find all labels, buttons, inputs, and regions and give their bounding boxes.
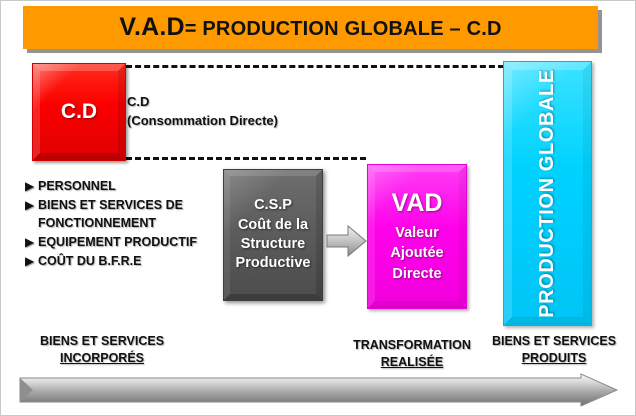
csp-line1: C.S.P (236, 196, 311, 215)
list-item: ▶ COÛT DU B.F.R.E (25, 252, 225, 270)
vad-subtext: Valeur Ajoutée Directe (390, 223, 443, 285)
production-globale-box: PRODUCTION GLOBALE (503, 61, 592, 326)
csp-box: C.S.P Coût de la Structure Productive (223, 169, 323, 301)
triangle-bullet-icon: ▶ (25, 252, 38, 270)
triangle-bullet-icon: ▶ (25, 196, 38, 214)
vad-line1: Valeur (390, 223, 443, 244)
slide-canvas: V.A.D= PRODUCTION GLOBALE – C.D C.D C.D … (0, 0, 636, 416)
cd-caption-line1: C.D (127, 93, 278, 112)
caption-incorpores-line1: BIENS ET SERVICES (40, 334, 164, 348)
caption-incorpores-line2: INCORPORÉS (60, 351, 144, 365)
csp-line4: Productive (236, 254, 311, 273)
title-main: V.A.D (119, 13, 184, 41)
triangle-bullet-icon: ▶ (25, 233, 38, 251)
cd-box: C.D (32, 63, 126, 161)
list-item: ▶ EQUIPEMENT PRODUCTIF (25, 233, 225, 251)
production-globale-label: PRODUCTION GLOBALE (536, 69, 559, 318)
dashed-line-top (126, 65, 504, 68)
vad-title: VAD (390, 189, 443, 218)
caption-incorpores: BIENS ET SERVICES INCORPORÉS (17, 333, 187, 367)
inputs-bullet-list: ▶ PERSONNEL ▶ BIENS ET SERVICES DE FONCT… (25, 177, 225, 271)
right-arrow-icon (326, 223, 368, 259)
cd-caption-line2: (Consommation Directe) (127, 112, 278, 131)
page-title: V.A.D= PRODUCTION GLOBALE – C.D (119, 15, 501, 40)
dashed-line-bottom (126, 157, 366, 160)
vad-box-text: VAD Valeur Ajoutée Directe (390, 189, 443, 284)
caption-transformation: TRANSFORMATION REALISÉE (337, 337, 487, 371)
title-banner: V.A.D= PRODUCTION GLOBALE – C.D (23, 6, 598, 49)
caption-transformation-line2: REALISÉE (381, 355, 444, 369)
csp-line3: Structure (236, 235, 311, 254)
cd-caption: C.D (Consommation Directe) (127, 93, 278, 131)
triangle-bullet-icon: ▶ (25, 177, 38, 195)
caption-produits-line1: BIENS ET SERVICES (492, 334, 616, 348)
list-item: ▶ PERSONNEL (25, 177, 225, 195)
cd-box-label: C.D (61, 100, 97, 124)
title-rest: = PRODUCTION GLOBALE – C.D (185, 18, 502, 40)
vad-line2: Ajoutée (390, 243, 443, 264)
list-item-label: COÛT DU B.F.R.E (38, 252, 141, 270)
csp-box-text: C.S.P Coût de la Structure Productive (236, 196, 311, 273)
caption-produits-line2: PRODUITS (522, 351, 587, 365)
caption-produits: BIENS ET SERVICES PRODUITS (489, 333, 619, 367)
list-item-label: PERSONNEL (38, 177, 116, 195)
caption-transformation-line1: TRANSFORMATION (353, 338, 471, 352)
list-item-label: EQUIPEMENT PRODUCTIF (38, 233, 197, 251)
vad-line3: Directe (390, 264, 443, 285)
csp-line2: Coût de la (236, 216, 311, 235)
vad-box: VAD Valeur Ajoutée Directe (367, 164, 467, 309)
list-item-label: BIENS ET SERVICES DE FONCTIONNEMENT (38, 196, 225, 232)
right-arrow-icon (19, 373, 619, 409)
list-item: ▶ BIENS ET SERVICES DE FONCTIONNEMENT (25, 196, 225, 232)
